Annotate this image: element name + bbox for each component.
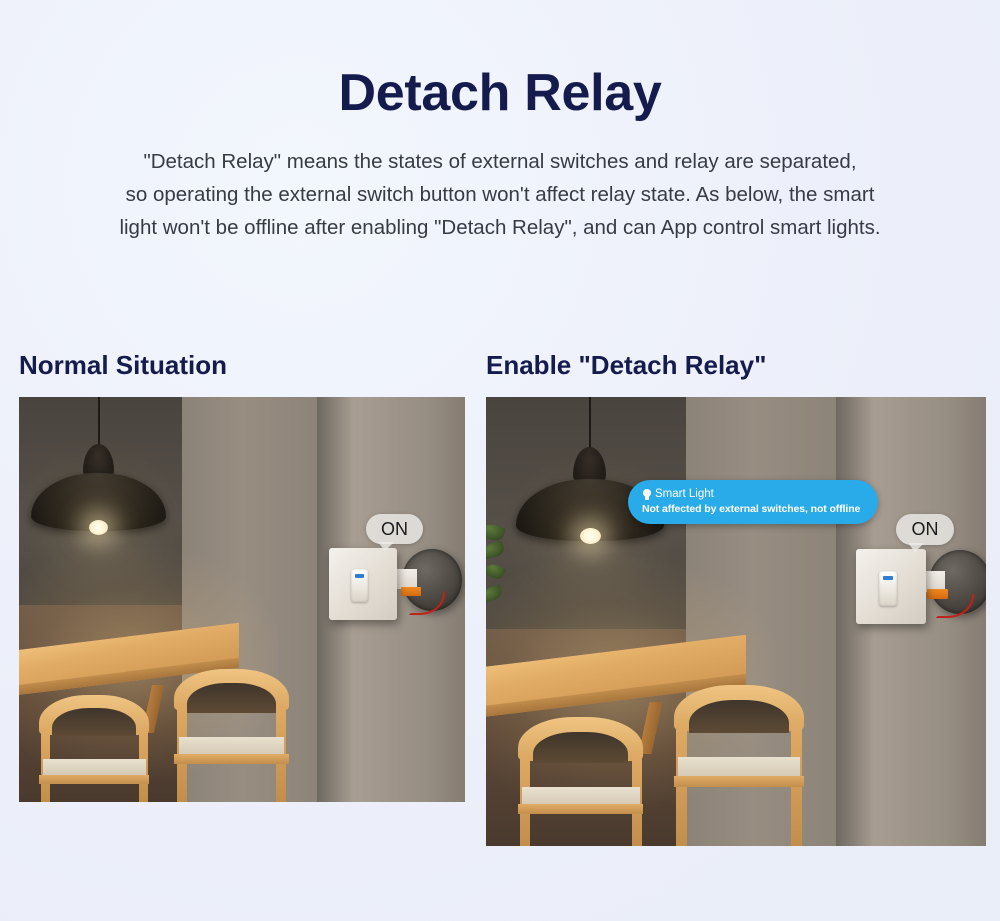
smart-light-tooltip: Smart Light Not affected by external swi… [628, 480, 878, 524]
tooltip-title-row: Smart Light [642, 487, 860, 502]
chair-back-opening [187, 683, 276, 713]
tooltip-subtitle: Not affected by external switches, not o… [642, 502, 860, 516]
chair-seat-rail [39, 775, 149, 784]
scene-photo-detach: ON Smart Light Not affected by external … [486, 397, 986, 846]
chair-back-opening [689, 700, 789, 733]
page-title: Detach Relay [0, 62, 1000, 124]
description-line-2: so operating the external switch button … [30, 178, 970, 211]
status-bubble-on: ON [896, 514, 954, 545]
lamp-cord [589, 397, 591, 453]
section-heading-detach: Enable "Detach Relay" [486, 350, 766, 381]
description-line-3: light won't be offline after enabling "D… [30, 211, 970, 244]
status-bubble-label: ON [912, 519, 939, 540]
switch-led-indicator [883, 576, 893, 580]
chair-seat-rail [518, 804, 643, 814]
status-bubble-label: ON [381, 519, 408, 540]
lamp-cord [98, 397, 100, 450]
lamp-bulb [89, 520, 108, 535]
chair-seat-rail [674, 776, 804, 787]
section-heading-normal: Normal Situation [19, 350, 227, 381]
page-description: "Detach Relay" means the states of exter… [30, 145, 970, 244]
description-line-1: "Detach Relay" means the states of exter… [30, 145, 970, 178]
page-root: Detach Relay "Detach Relay" means the st… [0, 0, 1000, 921]
switch-led-indicator [355, 574, 364, 578]
status-bubble-on: ON [366, 514, 423, 544]
tooltip-title: Smart Light [655, 487, 714, 502]
chair-seat-rail [174, 754, 289, 764]
scene-photo-normal: ON [19, 397, 465, 802]
chair-back-opening [52, 708, 136, 736]
lamp-bulb [580, 528, 601, 544]
chair-back-opening [533, 732, 628, 763]
light-bulb-icon [642, 489, 651, 501]
